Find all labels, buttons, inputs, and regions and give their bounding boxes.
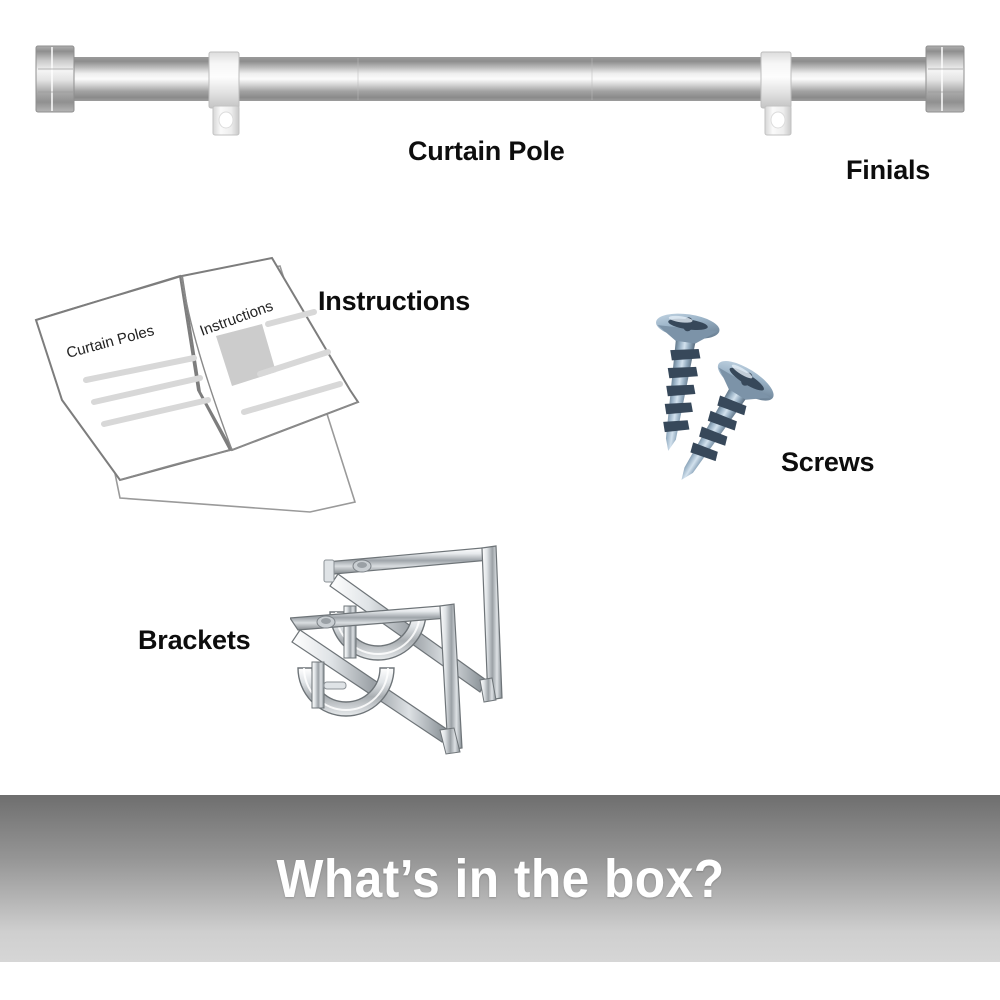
finial-right (926, 46, 964, 112)
label-brackets: Brackets (138, 625, 250, 656)
banner-title: What’s in the box? (276, 848, 724, 910)
label-finials: Finials (846, 155, 930, 186)
brackets-group (290, 530, 630, 780)
label-instructions: Instructions (318, 286, 470, 317)
pole-collar-bracket-right (761, 52, 791, 135)
pole-collar-bracket-left (209, 52, 239, 135)
pole-tube (60, 57, 940, 101)
product-contents-infographic: Curtain Pole Finials Curtain Poles (0, 0, 1000, 1000)
label-curtain-pole: Curtain Pole (408, 136, 565, 167)
label-screws: Screws (781, 447, 874, 478)
bottom-banner: What’s in the box? (0, 795, 1000, 962)
finial-left (36, 46, 74, 112)
